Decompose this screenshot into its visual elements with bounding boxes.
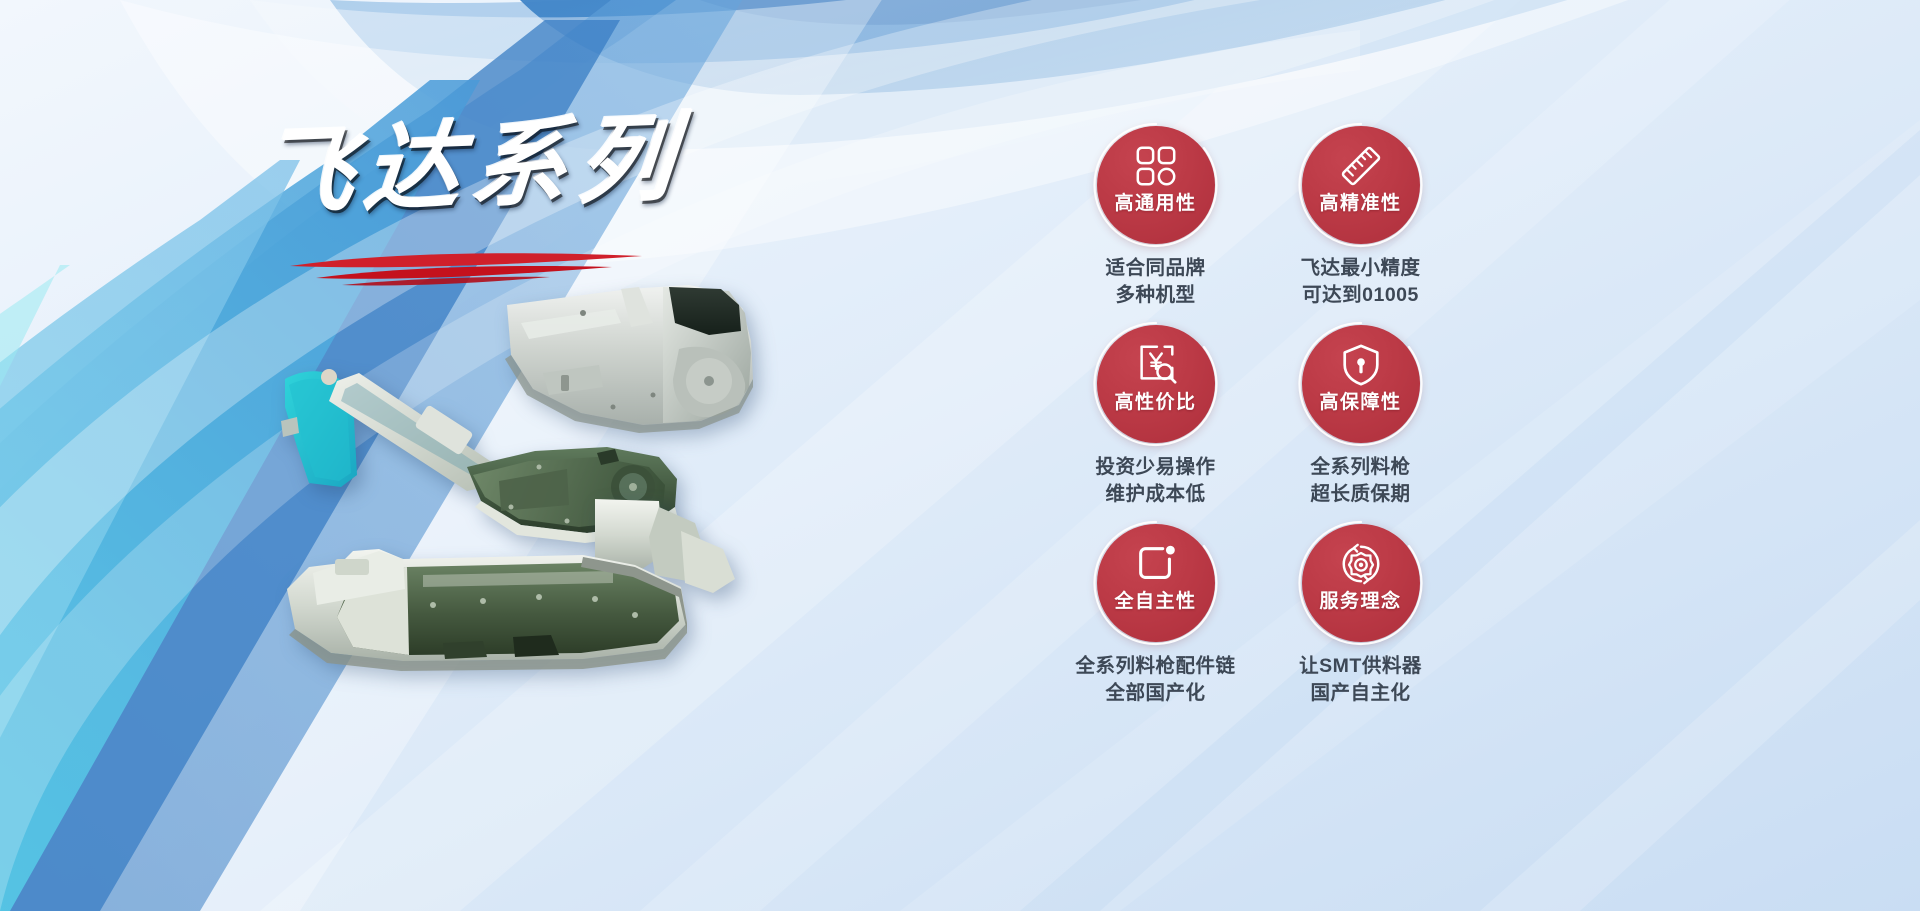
frame-dot-icon [1133, 541, 1179, 587]
caption-line: 飞达最小精度 [1300, 255, 1420, 282]
feature-item-assurance[interactable]: 高保障性 全系列料枪 超长质保期 [1263, 325, 1458, 508]
caption-line: 可达到01005 [1300, 282, 1420, 309]
feature-title: 高通用性 [1114, 194, 1196, 213]
caption-line: 全系列料枪 [1310, 454, 1410, 481]
caption-line: 全系列料枪配件链 [1075, 653, 1235, 680]
feature-item-universality[interactable]: 高通用性 适合同品牌 多种机型 [1058, 126, 1253, 309]
page-title: 飞达系列 [254, 104, 735, 226]
caption-line: 多种机型 [1105, 282, 1205, 309]
feature-title: 高精准性 [1319, 194, 1401, 213]
feature-badge[interactable]: 全自主性 [1097, 524, 1215, 642]
feature-title: 高性价比 [1114, 393, 1196, 412]
caption-line: 投资少易操作 [1095, 454, 1215, 481]
caption-line: 维护成本低 [1095, 481, 1215, 508]
caption-line: 让SMT供料器 [1299, 653, 1422, 680]
title-block: 飞达系列 [258, 122, 728, 292]
product-banner: 飞达系列 [0, 0, 1920, 911]
feature-item-value[interactable]: 高性价比 投资少易操作 维护成本低 [1058, 325, 1253, 508]
feature-item-service[interactable]: 服务理念 让SMT供料器 国产自主化 [1263, 524, 1458, 707]
caption-line: 全部国产化 [1075, 680, 1235, 707]
feature-caption: 适合同品牌 多种机型 [1105, 255, 1205, 309]
feature-caption: 全系列料枪 超长质保期 [1310, 454, 1410, 508]
grid-squares-icon [1133, 143, 1179, 189]
gear-cycle-icon [1338, 541, 1384, 587]
shield-lock-icon [1338, 342, 1384, 388]
feature-caption: 让SMT供料器 国产自主化 [1299, 653, 1422, 707]
feature-badge[interactable]: 高精准性 [1302, 126, 1420, 244]
feature-badge[interactable]: 服务理念 [1302, 524, 1420, 642]
feature-item-autonomy[interactable]: 全自主性 全系列料枪配件链 全部国产化 [1058, 524, 1253, 707]
feature-caption: 全系列料枪配件链 全部国产化 [1075, 653, 1235, 707]
feature-badge[interactable]: 高通用性 [1097, 126, 1215, 244]
feature-badge[interactable]: 高性价比 [1097, 325, 1215, 443]
caption-line: 国产自主化 [1299, 680, 1422, 707]
feature-title: 全自主性 [1114, 592, 1196, 611]
feature-title: 服务理念 [1319, 592, 1401, 611]
caption-line: 适合同品牌 [1105, 255, 1205, 282]
feature-caption: 飞达最小精度 可达到01005 [1300, 255, 1420, 309]
feature-badge[interactable]: 高保障性 [1302, 325, 1420, 443]
feature-grid: 高通用性 适合同品牌 多种机型 [1058, 126, 1458, 706]
feature-caption: 投资少易操作 维护成本低 [1095, 454, 1215, 508]
feature-title: 高保障性 [1319, 393, 1401, 412]
feature-item-precision[interactable]: 高精准性 飞达最小精度 可达到01005 [1263, 126, 1458, 309]
price-search-icon [1133, 342, 1179, 388]
ruler-icon [1338, 143, 1384, 189]
product-smt-feeder-long-body [283, 497, 743, 687]
product-images [255, 275, 855, 695]
caption-line: 超长质保期 [1310, 481, 1410, 508]
